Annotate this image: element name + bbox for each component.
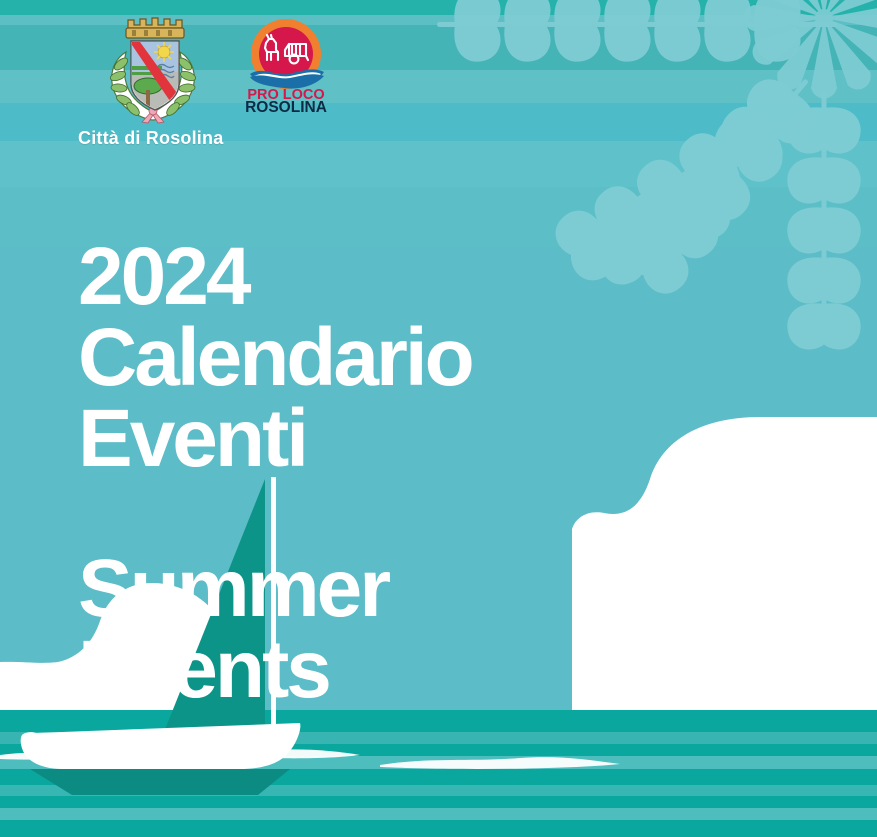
page-title: 2024 Calendario Eventi (78, 236, 472, 480)
logo-row: PRO LOCO ROSOLINA (98, 14, 336, 126)
headline-line-year: 2024 (78, 236, 472, 317)
cloud-dune-icon (572, 417, 877, 712)
sailboat-shadow (30, 769, 290, 795)
city-label: Città di Rosolina (78, 128, 223, 149)
headline-line-eventi: Eventi (78, 398, 472, 479)
page-subtitle: Summer Events (78, 548, 388, 710)
proloco-line2: ROSOLINA (245, 99, 327, 114)
subhead-line-events: Events (78, 629, 388, 710)
pro-loco-rosolina-logo-icon: PRO LOCO ROSOLINA (236, 14, 336, 114)
event-calendar-poster: PRO LOCO ROSOLINA Città di Rosolina 2024… (0, 0, 877, 837)
subhead-line-summer: Summer (78, 548, 388, 629)
headline-line-calendario: Calendario (78, 317, 472, 398)
rosolina-coat-of-arms-icon (98, 14, 208, 126)
leaf-branch-pattern-icon (407, 0, 877, 380)
